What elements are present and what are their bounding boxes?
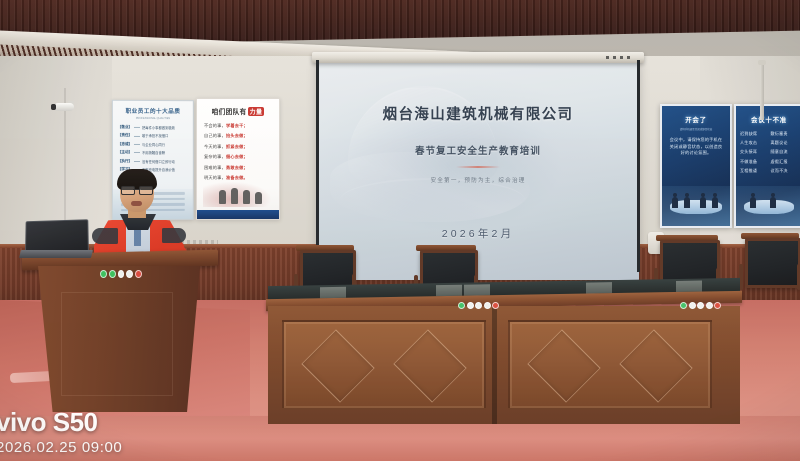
glasses-icon [121, 186, 153, 193]
table-center-seam [492, 306, 497, 424]
poster-b-line: 自己的事，抬头去做； [204, 133, 272, 139]
presenter-shoulder-left [92, 228, 118, 244]
poster-meeting-notice: 开会了 请将手机调至关闭或静音状态 会议中，请保持您的手机在关闭或静音状态，以创… [660, 104, 732, 228]
podium [22, 252, 218, 412]
dash-icon [134, 144, 140, 145]
rule-item: 虚假汇报 [771, 159, 799, 165]
diamond-motif [619, 329, 692, 402]
poster-a-row: 【执行】 没有任何借口立即行动 [118, 159, 188, 164]
poster-b-lines: 不会的事，学着去干； 自己的事，抬头去做； 今天的事，抓紧去做； 复杂的事，细心… [204, 123, 272, 181]
poster-a-value: 把每件小事都做到极致 [142, 125, 175, 130]
podium-body [38, 266, 200, 412]
poster-c-subtitle: 请将手机调至关闭或静音状态 [662, 127, 730, 131]
poster-c-body: 会议中，请保持您的手机在关闭或静音状态，以创造良好的讨论氛围。 [668, 137, 724, 157]
poster-a-row: 【责任】 敢于承担不找借口 [118, 133, 188, 138]
poster-b-line: 困难的事，勇敢去做； [204, 165, 272, 171]
laptop [20, 220, 90, 260]
slide-slogan: 安全第一，预防为主，综合治理 [317, 176, 639, 184]
table-panel-right [508, 320, 712, 410]
poster-d-title: 会议十不准 [736, 115, 800, 124]
slide-company-title: 烟台海山建筑机械有限公司 [317, 103, 639, 124]
poster-c-body-text: 会议中，请保持您的手机在关闭或静音状态，以创造良好的讨论氛围。 [668, 137, 724, 157]
watermark-brand: vivo S50 [0, 409, 122, 435]
table-panel-left [282, 320, 486, 410]
camera-watermark: vivo S50 2026.02.25 09:00 [0, 409, 122, 455]
security-camera-icon [50, 101, 76, 113]
conference-chair [745, 238, 795, 282]
poster-b-badge: 力量 [248, 107, 265, 116]
poster-a-title: 职业员工的十大品质 [113, 107, 193, 115]
rule-item: 随意自流 [771, 149, 799, 155]
slide-date: 2026年2月 [317, 226, 639, 241]
diamond-motif [301, 329, 374, 402]
poster-a-value: 没有任何借口立即行动 [142, 159, 175, 164]
rule-item: 不做准备 [740, 159, 768, 165]
laptop-keyboard [19, 250, 93, 258]
table-indicator-lights-left [458, 302, 499, 309]
poster-b-line: 复杂的事，细心去做； [204, 154, 272, 160]
poster-b-title: 咱们团队有力量 [197, 106, 279, 116]
poster-b-title-text: 咱们团队有 [212, 109, 247, 116]
rule-item: 人生攻击 [740, 140, 768, 146]
dash-icon [134, 136, 140, 137]
poster-d-rules-grid: 迟到缺席 敷衍塞责 人生攻击 离题议论 交头接耳 随意自流 不做准备 虚假汇报 … [740, 131, 798, 174]
roller-control-dots [606, 56, 632, 59]
diamond-motif [393, 329, 466, 402]
conduit-cap [758, 60, 766, 65]
dash-icon [134, 127, 140, 128]
conference-room-photo: 职业员工的十大品质 PROFESSIONAL QUALITIES 【敬业】 把每… [0, 0, 800, 461]
rule-item: 互相推诿 [740, 168, 768, 174]
poster-a-row: 【忠诚】 与企业同心同行 [118, 142, 188, 147]
poster-a-key: 【主动】 [118, 150, 132, 155]
rule-item: 离题议论 [771, 140, 799, 146]
poster-a-value: 与企业同心同行 [142, 142, 165, 147]
poster-meeting-rules: 会议十不准 迟到缺席 敷衍塞责 人生攻击 离题议论 交头接耳 随意自流 不做准备… [734, 104, 800, 228]
poster-b-artwork [203, 181, 273, 207]
rule-item: 迟到缺席 [740, 131, 768, 137]
poster-d-artwork [736, 186, 800, 226]
rule-item: 议而不决 [771, 168, 799, 174]
poster-a-key: 【责任】 [118, 133, 132, 138]
slide-content: 烟台海山建筑机械有限公司 春节复工安全生产教育培训 安全第一，预防为主，综合治理… [317, 60, 639, 280]
poster-b-line: 不会的事，学着去干； [204, 123, 272, 129]
poster-c-artwork [662, 186, 730, 226]
dash-icon [134, 161, 140, 162]
podium-indicator-lights [100, 270, 142, 277]
slide-training-title: 春节复工安全生产教育培训 [317, 143, 639, 157]
presenter-mouth [131, 201, 142, 206]
rule-item: 敷衍塞责 [771, 131, 799, 137]
poster-a-value: 敢于承担不找借口 [142, 133, 168, 138]
poster-a-subtitle: PROFESSIONAL QUALITIES [113, 117, 193, 120]
presenter-shoulder-right [162, 228, 186, 243]
poster-b-line: 今天的事，抓紧去做； [204, 144, 272, 150]
poster-a-row: 【敬业】 把每件小事都做到极致 [118, 125, 188, 130]
conference-table [268, 282, 740, 424]
poster-a-row: 【主动】 不用扬鞭自奋蹄 [118, 150, 188, 155]
watermark-timestamp: 2026.02.25 09:00 [0, 440, 122, 455]
poster-a-key: 【执行】 [118, 159, 132, 164]
diamond-motif [527, 329, 600, 402]
poster-a-key: 【敬业】 [118, 125, 132, 130]
rule-item: 交头接耳 [740, 149, 768, 155]
dash-icon [134, 152, 140, 153]
poster-c-title: 开会了 [662, 115, 730, 124]
laptop-screen [25, 219, 89, 254]
poster-a-list: 【敬业】 把每件小事都做到极致 【责任】 敢于承担不找借口 【忠诚】 与企业同心… [118, 125, 188, 172]
poster-b-bottom-bar [197, 210, 279, 219]
poster-a-value: 不用扬鞭自奋蹄 [142, 150, 165, 155]
slide-divider [456, 166, 500, 168]
table-indicator-lights-right [680, 302, 721, 309]
poster-a-key: 【忠诚】 [118, 142, 132, 147]
poster-team-strength: 咱们团队有力量 不会的事，学着去干； 自己的事，抬头去做； 今天的事，抓紧去做；… [196, 98, 280, 220]
wall-conduit [760, 62, 764, 120]
